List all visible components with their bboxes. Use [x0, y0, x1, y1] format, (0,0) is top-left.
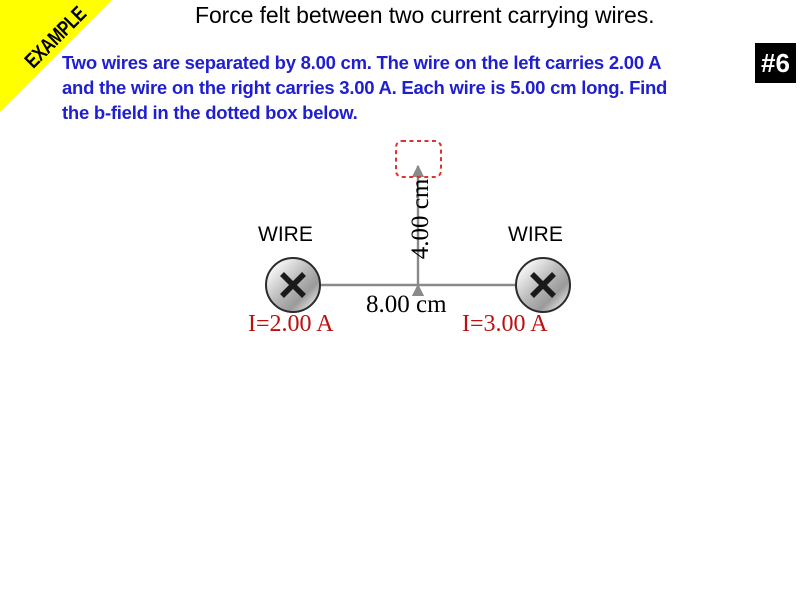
right-wire-current-label: I=3.00 A: [462, 311, 548, 338]
problem-number-badge: #6: [755, 43, 796, 83]
horizontal-distance-label: 8.00 cm: [366, 291, 447, 319]
left-wire-current-label: I=2.00 A: [248, 311, 334, 338]
right-wire-label: WIRE: [508, 223, 563, 247]
example-banner: EXAMPLE: [0, 0, 112, 112]
left-wire-label: WIRE: [258, 223, 313, 247]
vertical-distance-label: 4.00 cm: [407, 164, 435, 274]
example-banner-triangle: [0, 0, 112, 112]
wire-diagram: WIRE WIRE I=2.00 A I=3.00 A 8.00 cm 4.00…: [0, 0, 800, 600]
